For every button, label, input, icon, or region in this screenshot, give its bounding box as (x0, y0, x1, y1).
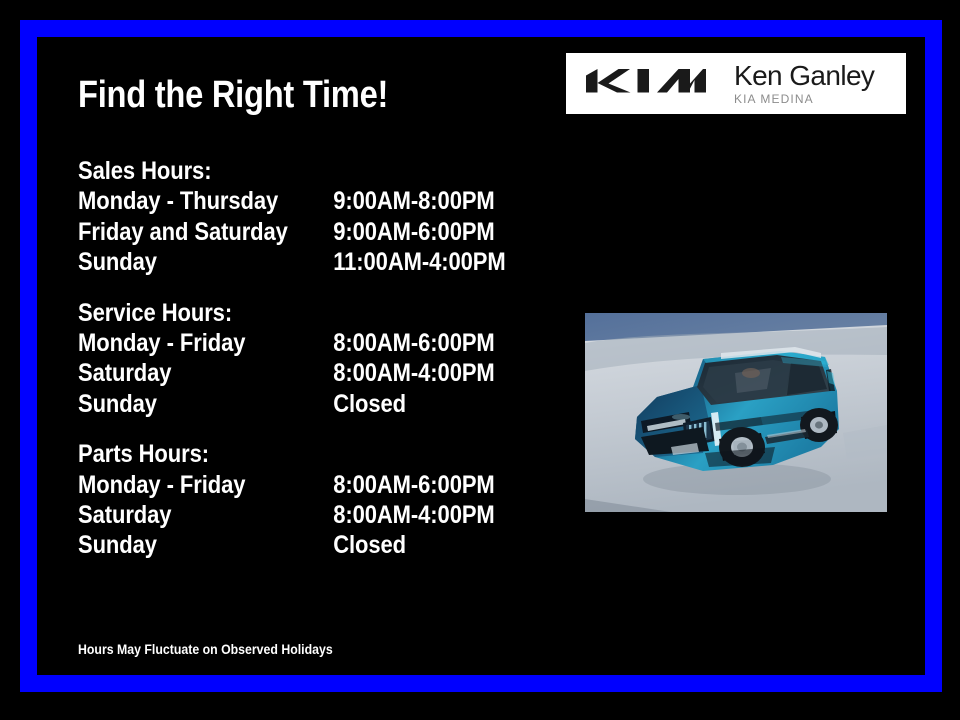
hours-day: Sunday (78, 389, 333, 419)
hours-time: Closed (333, 389, 483, 419)
hours-table: Sales Hours: Monday - Thursday 9:00AM-8:… (78, 156, 538, 561)
hours-row: Monday - Friday 8:00AM-6:00PM (78, 470, 483, 500)
vehicle-illustration (585, 313, 887, 512)
holiday-disclaimer: Hours May Fluctuate on Observed Holidays (78, 641, 333, 657)
hours-time: 8:00AM-4:00PM (333, 358, 494, 388)
hours-day: Monday - Thursday (78, 186, 333, 216)
hours-row: Sunday 11:00AM-4:00PM (78, 247, 483, 277)
hours-day: Saturday (78, 358, 333, 388)
dealer-name-block: Ken Ganley KIA MEDINA (734, 62, 874, 105)
hours-row: Saturday 8:00AM-4:00PM (78, 500, 483, 530)
hours-day: Sunday (78, 530, 333, 560)
hours-block-title: Sales Hours: (78, 156, 483, 186)
hours-time: Closed (333, 530, 483, 560)
dealer-name: Ken Ganley (734, 62, 874, 90)
hours-day: Monday - Friday (78, 328, 333, 358)
dealer-logo-lockup: Ken Ganley KIA MEDINA (566, 53, 906, 114)
hours-time: 8:00AM-4:00PM (333, 500, 494, 530)
hours-row: Monday - Thursday 9:00AM-8:00PM (78, 186, 483, 216)
hours-row: Saturday 8:00AM-4:00PM (78, 358, 483, 388)
hours-row: Friday and Saturday 9:00AM-6:00PM (78, 217, 483, 247)
hours-day: Saturday (78, 500, 333, 530)
hours-time: 8:00AM-6:00PM (333, 470, 494, 500)
hours-row: Monday - Friday 8:00AM-6:00PM (78, 328, 483, 358)
hours-day: Friday and Saturday (78, 217, 333, 247)
page-title: Find the Right Time! (78, 76, 388, 114)
hours-block-title: Service Hours: (78, 298, 483, 328)
hours-time: 9:00AM-8:00PM (333, 186, 494, 216)
hours-time: 9:00AM-6:00PM (333, 217, 494, 247)
hours-block-title: Parts Hours: (78, 439, 483, 469)
hours-block-sales: Sales Hours: Monday - Thursday 9:00AM-8:… (78, 156, 538, 278)
hours-row: Sunday Closed (78, 389, 483, 419)
kia-ev9-suv-photo (585, 313, 887, 512)
dealer-subtitle: KIA MEDINA (734, 93, 874, 105)
hours-row: Sunday Closed (78, 530, 483, 560)
hours-day: Monday - Friday (78, 470, 333, 500)
hours-day: Sunday (78, 247, 333, 277)
hours-time: 11:00AM-4:00PM (333, 247, 505, 277)
hours-time: 8:00AM-6:00PM (333, 328, 494, 358)
slide: Find the Right Time! Sales Hours: Monday… (0, 0, 960, 720)
hours-block-parts: Parts Hours: Monday - Friday 8:00AM-6:00… (78, 439, 538, 561)
hours-block-service: Service Hours: Monday - Friday 8:00AM-6:… (78, 298, 538, 420)
kia-logo-icon (584, 67, 708, 101)
